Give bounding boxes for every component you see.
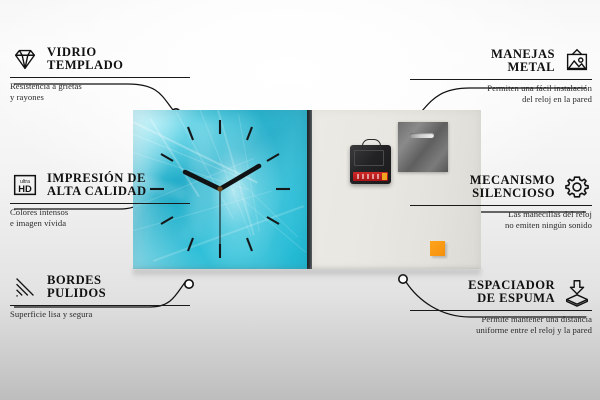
divider bbox=[10, 203, 190, 204]
feature-heading: ultra HD IMPRESIÓN DE ALTA CALIDAD bbox=[10, 170, 190, 200]
desc-line-2: uniforme entre el reloj y la pared bbox=[410, 325, 592, 336]
title-line-1: MANEJAS bbox=[491, 47, 555, 61]
title-line-2: ALTA CALIDAD bbox=[47, 185, 147, 198]
feature-description: Las manecillas del reloj no emiten ningú… bbox=[410, 209, 592, 230]
desc-line-1: Resistencia a grietas bbox=[10, 81, 190, 92]
feature-title: VIDRIO TEMPLADO bbox=[47, 46, 123, 73]
divider bbox=[10, 305, 190, 306]
feature-heading: ESPACIADOR DE ESPUMA bbox=[410, 277, 592, 307]
battery bbox=[353, 172, 388, 181]
feature-bordes-pulidos: BORDES PULIDOS Superficie lisa y segura bbox=[10, 272, 190, 320]
divider bbox=[410, 205, 592, 206]
metal-hanger-plate bbox=[398, 122, 448, 172]
feature-description: Superficie lisa y segura bbox=[10, 309, 190, 320]
feature-espaciador-espuma: ESPACIADOR DE ESPUMA Permite mantener un… bbox=[410, 277, 592, 335]
desc-line-1: Permiten una fácil instalación bbox=[410, 83, 592, 94]
picture-hanger-icon bbox=[562, 46, 592, 76]
hanger-slot bbox=[410, 133, 434, 138]
feature-description: Resistencia a grietas y rayones bbox=[10, 81, 190, 102]
title-line-2: DE ESPUMA bbox=[468, 292, 555, 305]
battery-terminal bbox=[382, 173, 387, 180]
feature-heading: MECANISMO SILENCIOSO bbox=[410, 172, 592, 202]
feature-title: IMPRESIÓN DE ALTA CALIDAD bbox=[47, 172, 147, 199]
feature-heading: MANEJAS METAL bbox=[410, 46, 592, 76]
minute-hand bbox=[185, 172, 220, 189]
desc-line-2: y rayones bbox=[10, 92, 190, 103]
desc-line-1: Colores intensos bbox=[10, 207, 190, 218]
movement-hook bbox=[362, 139, 381, 149]
feature-mecanismo-silencioso: MECANISMO SILENCIOSO Las manecillas del … bbox=[410, 172, 592, 230]
ultra-hd-icon: ultra HD bbox=[10, 170, 40, 200]
quartz-movement bbox=[350, 145, 391, 184]
desc-line-2: del reloj en la pared bbox=[410, 94, 592, 105]
feature-impresion-alta-calidad: ultra HD IMPRESIÓN DE ALTA CALIDAD Color… bbox=[10, 170, 190, 228]
feature-vidrio-templado: VIDRIO TEMPLADO Resistencia a grietas y … bbox=[10, 44, 190, 102]
divider bbox=[10, 77, 190, 78]
title-line-1: BORDES bbox=[47, 273, 102, 287]
title-line-2: PULIDOS bbox=[47, 287, 106, 300]
feature-title: MANEJAS METAL bbox=[491, 48, 555, 75]
desc-line-1: Superficie lisa y segura bbox=[10, 309, 190, 320]
divider bbox=[410, 310, 592, 311]
hd-label: HD bbox=[18, 184, 32, 194]
hands-hub bbox=[217, 186, 222, 191]
title-line-1: MECANISMO bbox=[470, 173, 555, 187]
hour-hand bbox=[220, 166, 259, 189]
feature-heading: VIDRIO TEMPLADO bbox=[10, 44, 190, 74]
title-line-1: ESPACIADOR bbox=[468, 278, 555, 292]
movement-body bbox=[354, 150, 384, 166]
polished-edges-icon bbox=[10, 272, 40, 302]
desc-line-2: no emiten ningún sonido bbox=[410, 220, 592, 231]
divider bbox=[410, 79, 592, 80]
desc-line-1: Permite mantener una distancia bbox=[410, 314, 592, 325]
gear-icon bbox=[562, 172, 592, 202]
foam-spacer-icon bbox=[562, 277, 592, 307]
title-line-1: VIDRIO bbox=[47, 45, 97, 59]
diamond-icon bbox=[10, 44, 40, 74]
feature-title: BORDES PULIDOS bbox=[47, 274, 106, 301]
foam-spacer bbox=[430, 241, 445, 256]
title-line-2: METAL bbox=[491, 61, 555, 74]
infographic-canvas: VIDRIO TEMPLADO Resistencia a grietas y … bbox=[0, 0, 600, 400]
feature-title: MECANISMO SILENCIOSO bbox=[470, 174, 555, 201]
feature-heading: BORDES PULIDOS bbox=[10, 272, 190, 302]
desc-line-2: e imagen vívida bbox=[10, 218, 190, 229]
feature-manejas-metal: MANEJAS METAL Permiten una fácil instala… bbox=[410, 46, 592, 104]
feature-description: Permiten una fácil instalación del reloj… bbox=[410, 83, 592, 104]
feature-description: Permite mantener una distancia uniforme … bbox=[410, 314, 592, 335]
title-line-1: IMPRESIÓN DE bbox=[47, 171, 146, 185]
title-line-2: TEMPLADO bbox=[47, 59, 123, 72]
title-line-2: SILENCIOSO bbox=[470, 187, 555, 200]
feature-description: Colores intensos e imagen vívida bbox=[10, 207, 190, 228]
feature-title: ESPACIADOR DE ESPUMA bbox=[468, 279, 555, 306]
desc-line-1: Las manecillas del reloj bbox=[410, 209, 592, 220]
